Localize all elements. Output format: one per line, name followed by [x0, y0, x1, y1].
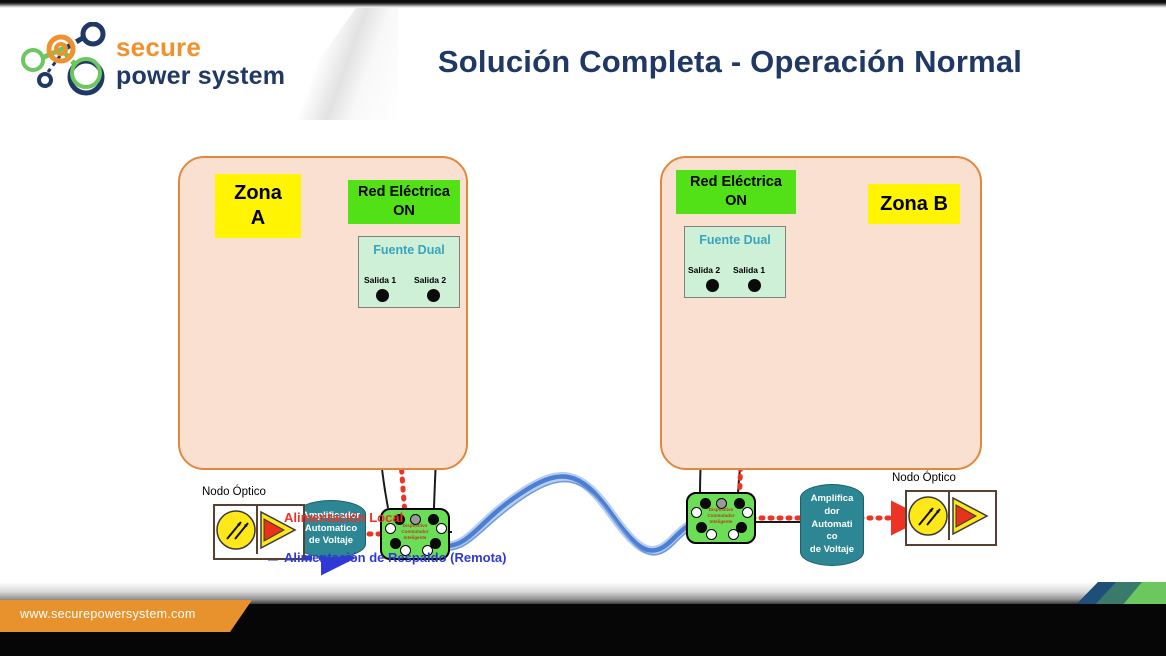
slide-canvas: secure power system Solución Completa - … — [0, 0, 1166, 656]
zone-a-supply-title: Fuente Dual — [359, 243, 459, 257]
logo-wordmark: secure power system — [116, 33, 285, 90]
zone-a-label: Zona A — [215, 174, 301, 238]
zone-b-switch-label: Dispositivo Conmutador Inteligente — [688, 507, 754, 526]
network-nodes-icon — [14, 22, 110, 98]
zone-b-power-supply: Fuente Dual Salida 2 Salida 1 — [684, 226, 786, 298]
zone-a-grid-status-text: Red Eléctrica ON — [358, 183, 450, 221]
zone-b-label-text: Zona B — [880, 192, 948, 217]
page-title: Solución Completa - Operación Normal — [360, 44, 1100, 80]
switch-b-port-9 — [728, 529, 739, 540]
zone-a-grid-status: Red Eléctrica ON — [348, 180, 460, 224]
zone-b-optical-node — [905, 490, 997, 546]
zone-b-amplifier-text: Amplifica dor Automati co de Voltaje — [810, 493, 854, 557]
zone-b-grid-status: Red Eléctrica ON — [676, 170, 796, 214]
logo-line-secure: secure — [116, 33, 285, 62]
fiber-cable-outer — [446, 477, 700, 551]
zone-a-optical-node-label: Nodo Óptico — [202, 486, 266, 498]
fiber-cable-core — [446, 477, 700, 551]
zone-b-grid-status-text: Red Eléctrica ON — [690, 173, 782, 211]
optical-node-icon — [907, 492, 991, 540]
legend-item-remote: Alimentación de Respaldo (Remota) — [268, 550, 506, 565]
zone-b-output-2-terminal — [706, 279, 719, 292]
zone-b-supply-title: Fuente Dual — [685, 233, 785, 247]
logo-line-power-system: power system — [116, 62, 285, 90]
zone-a-output-1-terminal — [376, 289, 389, 302]
zone-b-voltage-amplifier: Amplifica dor Automati co de Voltaje — [800, 484, 864, 566]
zone-b-output-2-label: Salida 2 — [688, 265, 720, 275]
zone-a-switch-label: Dispositivo Conmutador Inteligente — [382, 523, 448, 542]
slide-footer: www.securepowersystem.com — [0, 582, 1166, 656]
zone-a-output-2-terminal — [427, 289, 440, 302]
zone-b-output-1-terminal — [748, 279, 761, 292]
legend-item-local: Alimentación Local — [268, 510, 403, 525]
zone-b-optical-node-label: Nodo Óptico — [892, 472, 956, 484]
zone-b-smart-switch: Dispositivo Conmutador Inteligente — [686, 492, 756, 544]
zone-a-label-text: Zona A — [234, 181, 282, 231]
zone-b-output-1-label: Salida 1 — [733, 265, 765, 275]
slide-header: secure power system Solución Completa - … — [0, 0, 1166, 122]
zone-b-label: Zona B — [868, 184, 960, 224]
legend-local-label: Alimentación Local — [284, 510, 403, 525]
zone-a-output-2-label: Salida 2 — [414, 275, 446, 285]
zone-a-power-supply: Fuente Dual Salida 1 Salida 2 — [358, 236, 460, 308]
switch-b-port-8 — [706, 529, 717, 540]
zone-a-output-1-label: Salida 1 — [364, 275, 396, 285]
header-top-shadow — [0, 0, 1166, 8]
diagram-area: Zona A Red Eléctrica ON Fuente Dual Sali… — [0, 122, 1166, 582]
footer-website-url[interactable]: www.securepowersystem.com — [20, 607, 196, 621]
legend-remote-label: Alimentación de Respaldo (Remota) — [284, 550, 506, 565]
